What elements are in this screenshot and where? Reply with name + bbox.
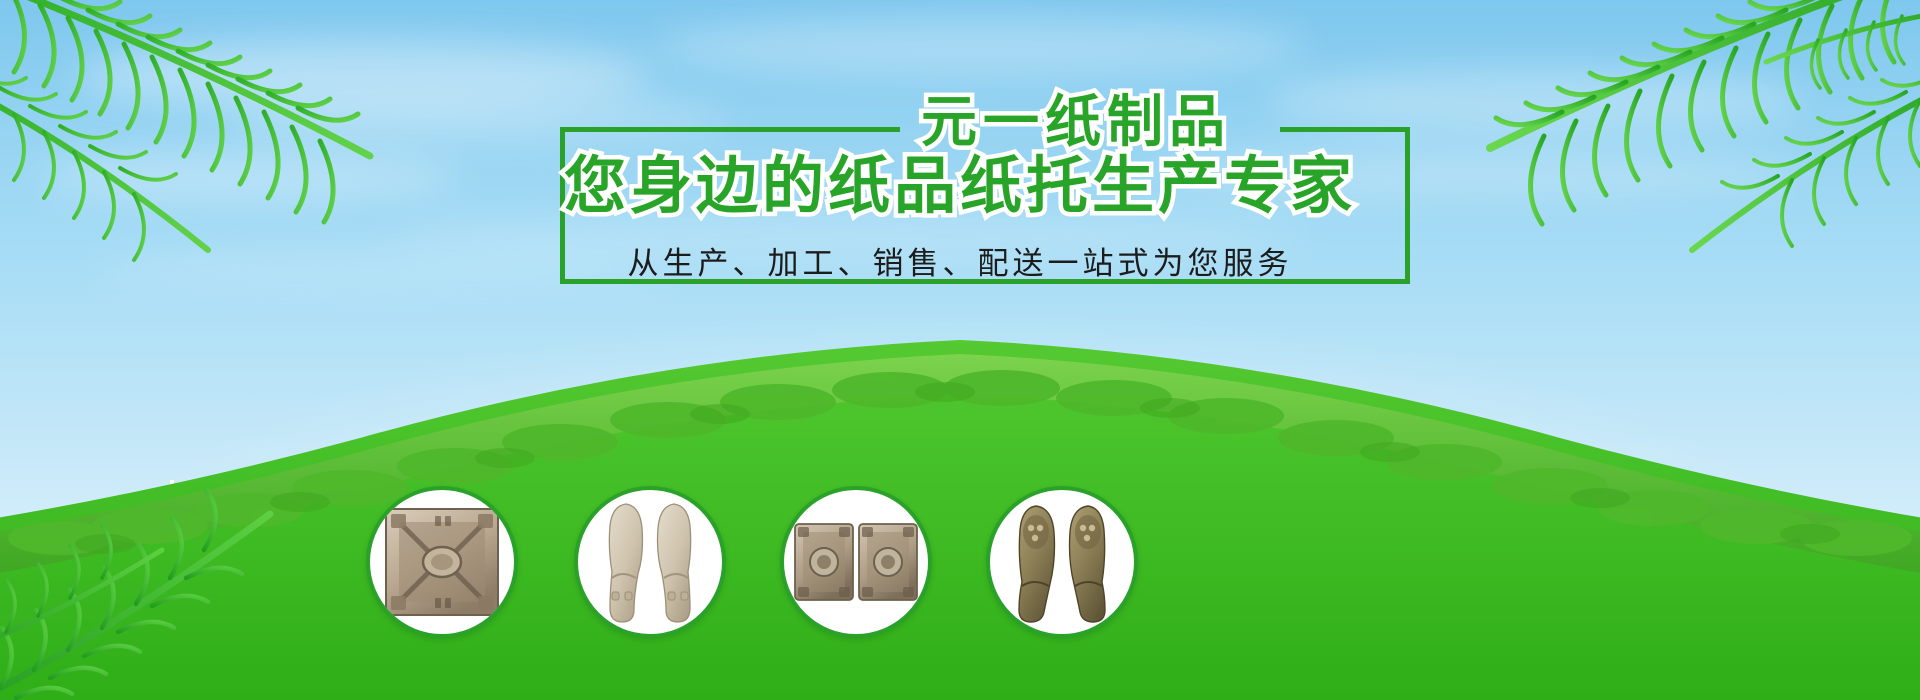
- banner-text-block: 元一纸制品 您身边的纸品纸托生产专家 从生产、加工、销售、配送一站式为您服务: [0, 0, 1920, 360]
- paper-pulp-shoe-insole-pair-icon: [594, 496, 706, 628]
- paper-pulp-tray-square-icon: [383, 506, 501, 618]
- product-thumb-paper-pulp-shoe-insole-pair[interactable]: [574, 486, 726, 638]
- product-thumb-paper-pulp-tray-square[interactable]: [366, 486, 518, 638]
- paper-pulp-corner-protector-pair-icon: [793, 512, 919, 612]
- banner-subtitle: 从生产、加工、销售、配送一站式为您服务: [0, 238, 1920, 283]
- promo-banner: 元一纸制品 您身边的纸品纸托生产专家 从生产、加工、销售、配送一站式为您服务: [0, 0, 1920, 700]
- product-thumb-paper-pulp-shoe-last-pair-dark[interactable]: [986, 486, 1138, 638]
- paper-pulp-shoe-last-pair-dark-icon: [1006, 498, 1118, 626]
- headline-line-2: 您身边的纸品纸托生产专家: [0, 148, 1920, 224]
- product-thumb-paper-pulp-corner-protector-pair[interactable]: [780, 486, 932, 638]
- product-thumbnail-row: [0, 440, 1920, 700]
